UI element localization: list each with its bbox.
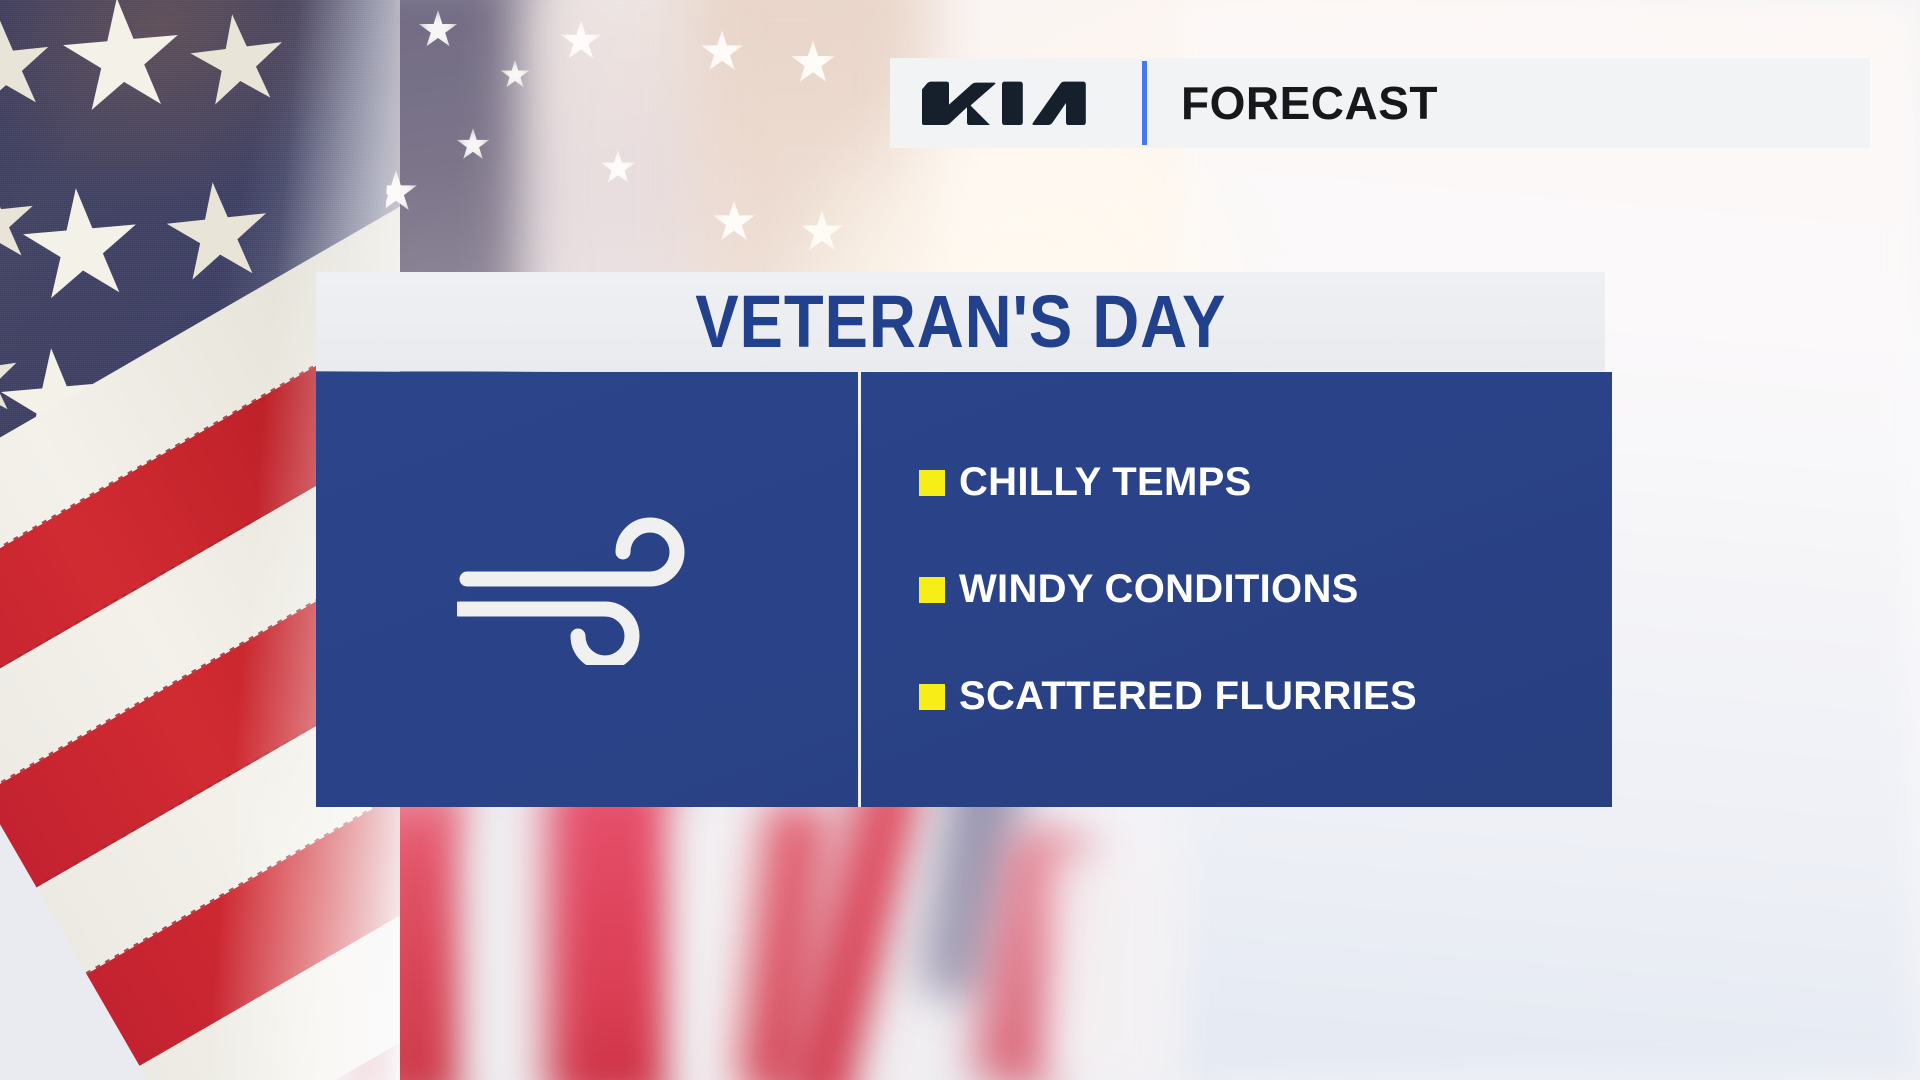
list-item: WINDY CONDITIONS: [919, 567, 1612, 612]
wind-icon: [457, 515, 717, 665]
forecast-bullet-list: CHILLY TEMPS WINDY CONDITIONS SCATTERED …: [861, 372, 1612, 807]
background-blurred-stripe: [1050, 850, 1170, 1080]
forecast-item-label: CHILLY TEMPS: [959, 460, 1252, 505]
kia-logo: [920, 79, 1120, 127]
forecast-label: FORECAST: [1181, 76, 1438, 130]
forecast-panel: CHILLY TEMPS WINDY CONDITIONS SCATTERED …: [316, 372, 1612, 807]
title-bar: VETERAN'S DAY: [316, 272, 1605, 371]
bullet-square-icon: [919, 577, 945, 603]
bullet-square-icon: [919, 470, 945, 496]
background-blurred-stripe: [548, 770, 678, 1080]
list-item: SCATTERED FLURRIES: [919, 674, 1612, 719]
bullet-square-icon: [919, 684, 945, 710]
list-item: CHILLY TEMPS: [919, 460, 1612, 505]
forecast-icon-cell: [316, 372, 858, 807]
kia-forecast-header: FORECAST: [890, 58, 1870, 148]
kia-divider-rule: [1142, 61, 1147, 145]
forecast-item-label: SCATTERED FLURRIES: [959, 674, 1417, 719]
page-title: VETERAN'S DAY: [695, 279, 1226, 364]
forecast-item-label: WINDY CONDITIONS: [959, 567, 1359, 612]
background-blurred-stripe: [470, 790, 550, 1080]
